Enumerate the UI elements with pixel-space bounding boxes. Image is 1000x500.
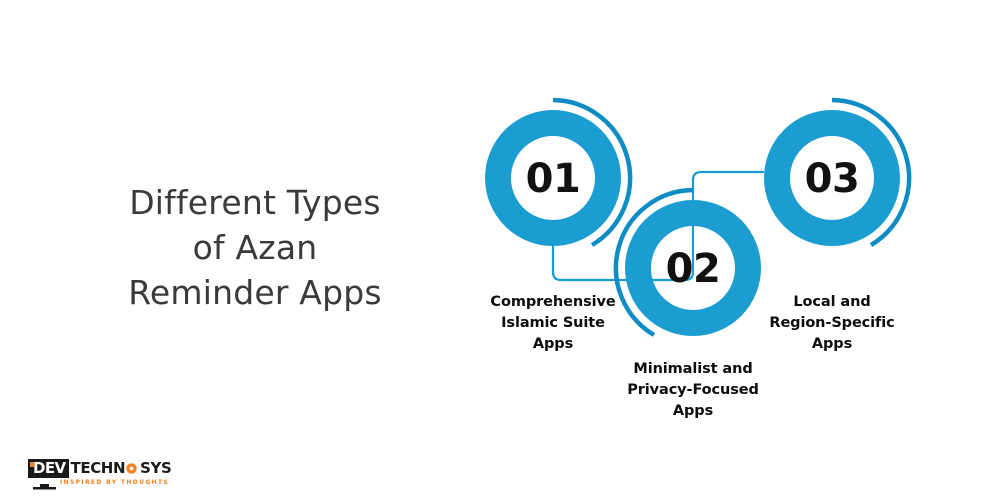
step-caption-1-line-3: Apps [468, 334, 638, 355]
logo-sys-text: SYS [138, 459, 171, 478]
gear-icon [126, 463, 137, 474]
page-title-line-3: Reminder Apps [95, 270, 415, 315]
step-caption-2-line-2: Privacy-Focused [608, 380, 778, 401]
logo-tech-text: TECHN [69, 459, 126, 478]
step-caption-2-line-3: Apps [608, 401, 778, 422]
step-number-2: 02 [633, 249, 753, 289]
connector-2-to-3 [693, 172, 764, 200]
step-caption-3-line-2: Region-Specific [747, 313, 917, 334]
logo-dev-badge: DEV [28, 459, 69, 478]
devtechnosys-logo: DEV TECHN SYS INSPIRED BY THOUGHTS [28, 459, 163, 492]
step-caption-1-line-1: Comprehensive [468, 292, 638, 313]
step-caption-3-line-1: Local and [747, 292, 917, 313]
step-caption-3: Local and Region-Specific Apps [747, 292, 917, 355]
logo-wordmark: DEV TECHN SYS [28, 459, 171, 478]
step-caption-1-line-2: Islamic Suite [468, 313, 638, 334]
page-title-line-1: Different Types [95, 180, 415, 225]
page-title: Different Types of Azan Reminder Apps [95, 180, 415, 315]
step-number-3: 03 [772, 159, 892, 199]
step-caption-3-line-3: Apps [747, 334, 917, 355]
step-caption-2-line-1: Minimalist and [608, 359, 778, 380]
logo-tagline: INSPIRED BY THOUGHTS [60, 478, 169, 487]
logo-accent-mark [30, 462, 34, 467]
page-title-line-2: of Azan [95, 225, 415, 270]
step-caption-2: Minimalist and Privacy-Focused Apps [608, 359, 778, 422]
step-caption-1: Comprehensive Islamic Suite Apps [468, 292, 638, 355]
step-number-1: 01 [493, 159, 613, 199]
